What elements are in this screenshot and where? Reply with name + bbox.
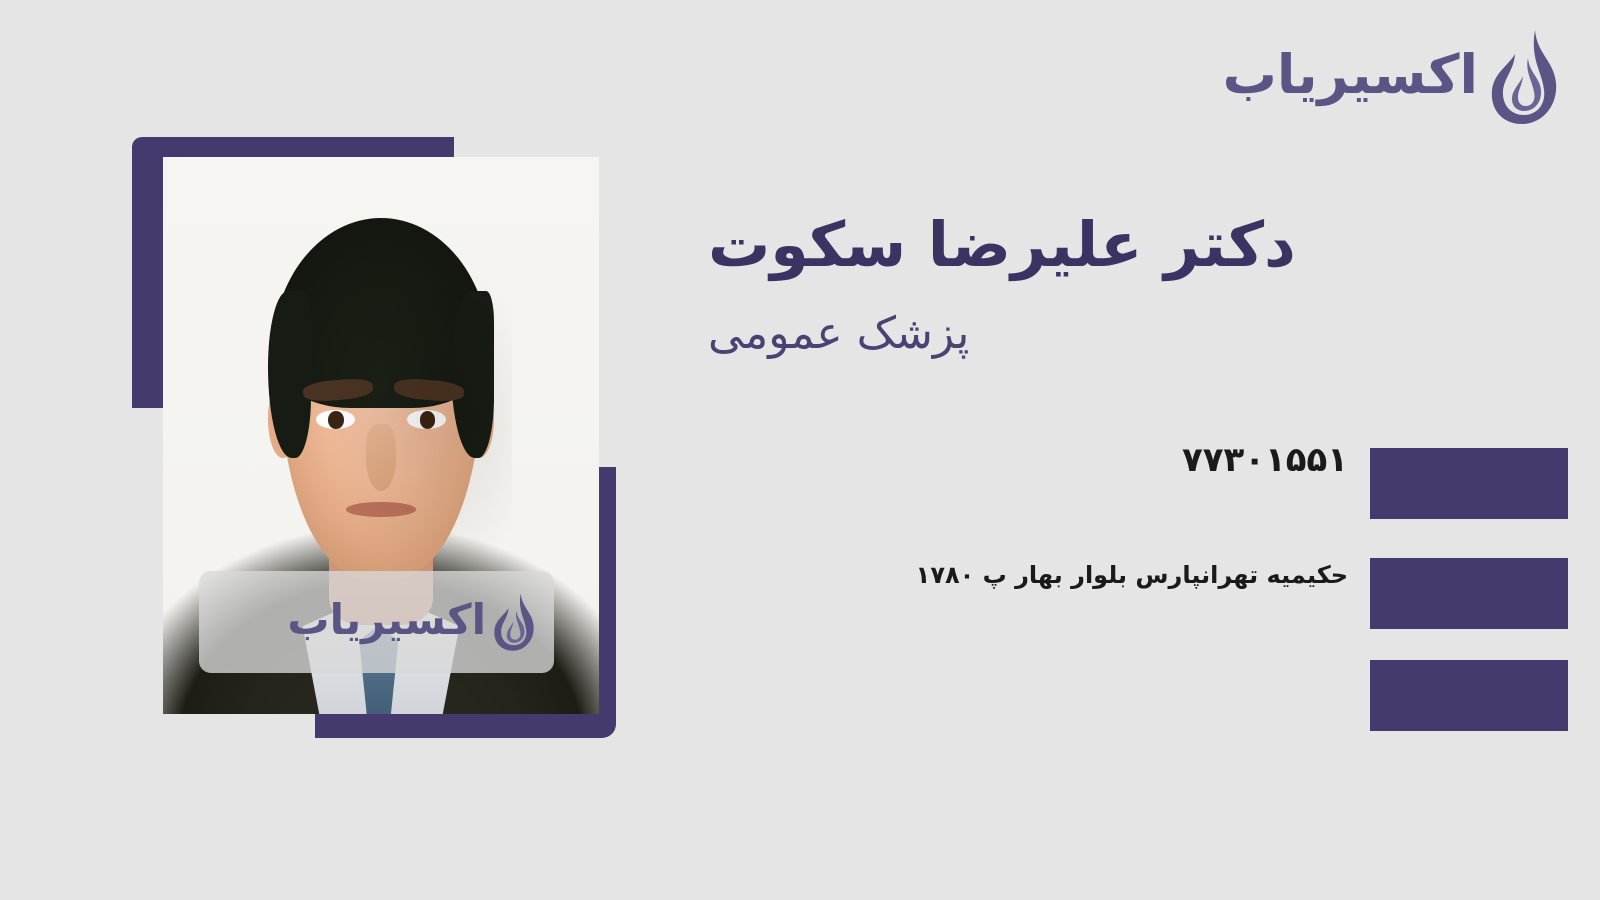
brand-logo[interactable]: اکسیریاب (1223, 28, 1560, 126)
doctor-specialty: پزشک عمومی (708, 306, 1528, 361)
decor-bar-3 (1370, 660, 1568, 731)
portrait-shading (250, 224, 512, 614)
watermark-brand-name: اکسیریاب (287, 599, 486, 645)
decor-bar-2 (1370, 558, 1568, 629)
doctor-photo: اکسیریاب (163, 157, 599, 714)
flame-drop-icon (1488, 28, 1560, 126)
decor-bar-1 (1370, 448, 1568, 519)
doctor-profile-card: اکسیریاب (0, 0, 1600, 900)
doctor-address: حکیمیه تهرانپارس بلوار بهار پ ۱۷۸۰ (916, 561, 1348, 589)
brand-name: اکسیریاب (1223, 48, 1478, 106)
photo-watermark: اکسیریاب (199, 571, 554, 673)
doctor-phone[interactable]: ۷۷۳۰۱۵۵۱ (1182, 440, 1348, 480)
doctor-info: دکتر علیرضا سکوت پزشک عمومی (708, 208, 1528, 361)
doctor-name: دکتر علیرضا سکوت (708, 208, 1528, 282)
flame-drop-icon (492, 591, 536, 653)
portrait-composition: اکسیریاب (132, 137, 616, 738)
